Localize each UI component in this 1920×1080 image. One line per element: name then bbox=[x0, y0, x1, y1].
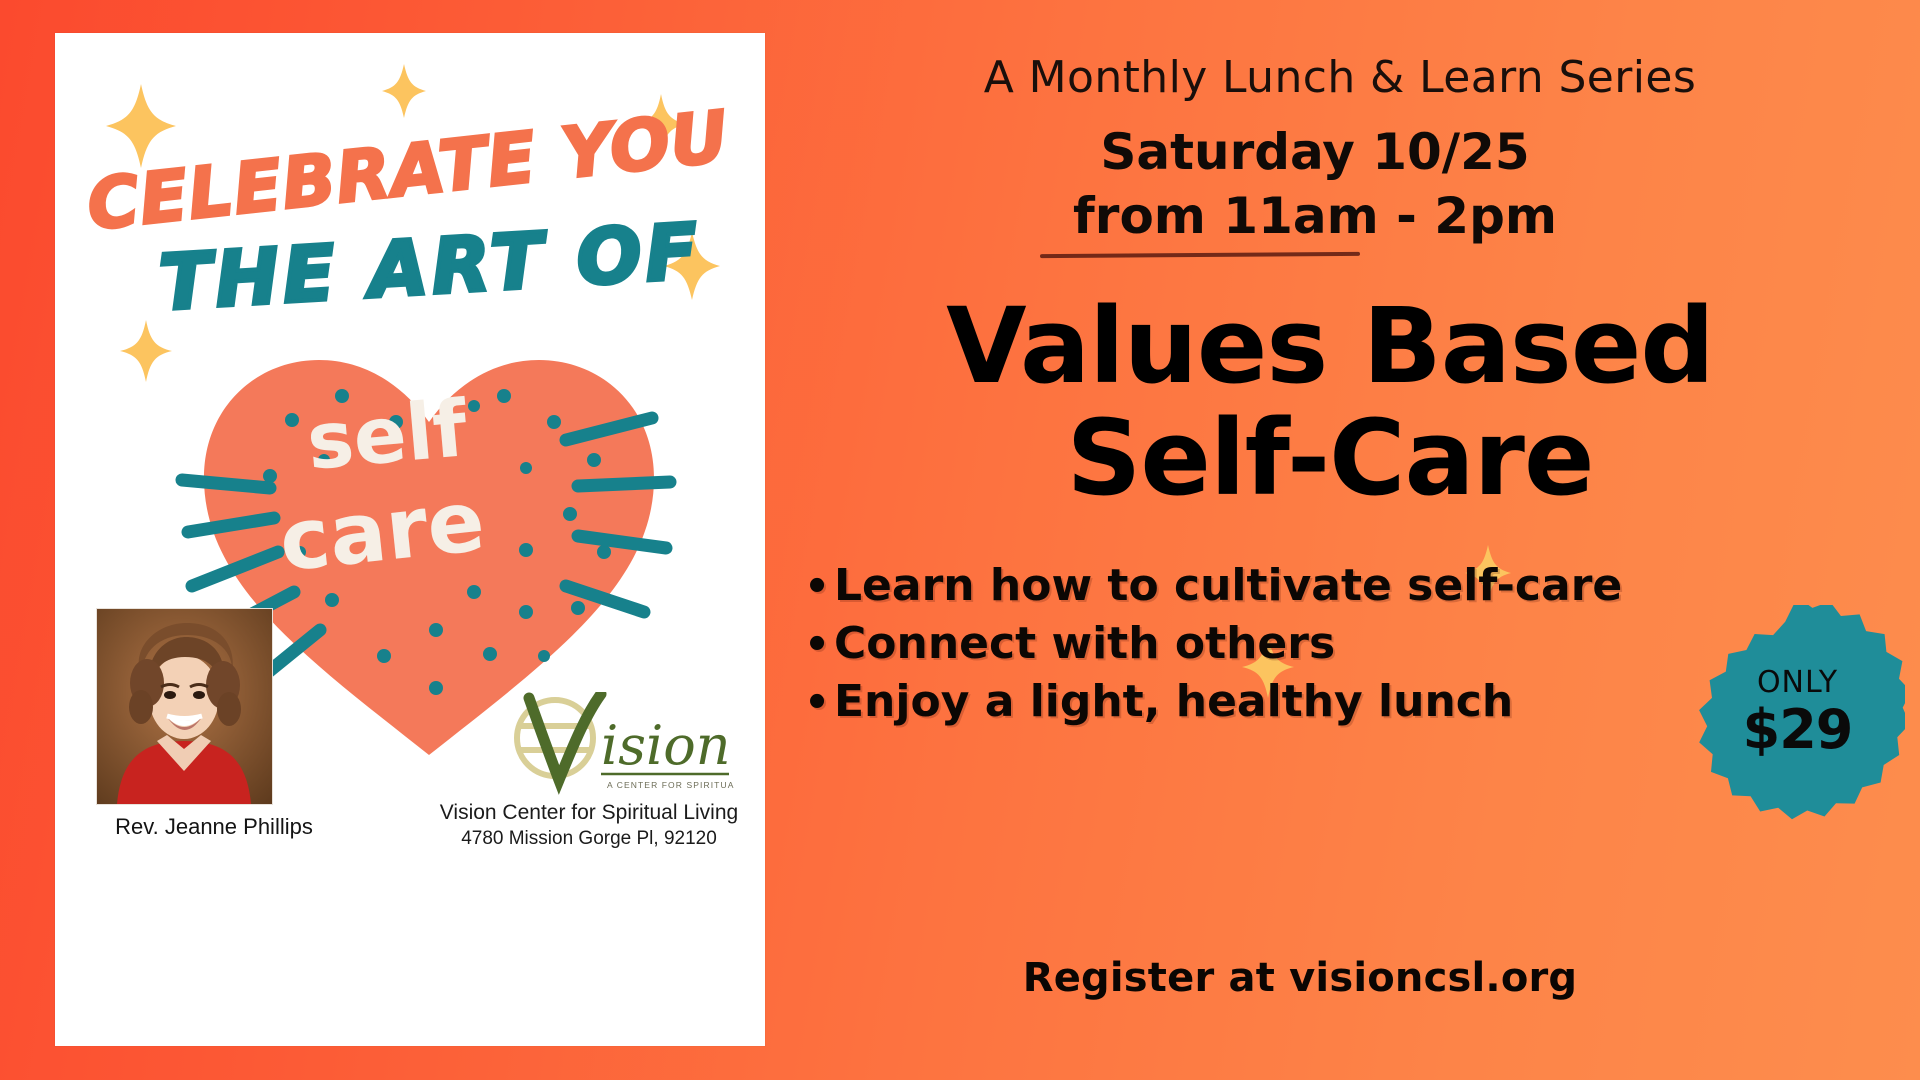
poster-card: CELEBRATE YOU ! THE ART OF bbox=[55, 33, 765, 1046]
page-title-line2: Self-Care bbox=[790, 402, 1870, 514]
badge-price: $29 bbox=[1743, 698, 1853, 761]
event-date: Saturday 10/25 bbox=[790, 120, 1840, 184]
right-panel: A Monthly Lunch & Learn Series Saturday … bbox=[790, 0, 1920, 1080]
event-time: from 11am - 2pm bbox=[790, 184, 1840, 248]
list-item-label: Learn how to cultivate self-care bbox=[834, 558, 1622, 614]
sparkle-icon bbox=[120, 320, 172, 382]
price-badge: ONLY $29 bbox=[1690, 605, 1905, 820]
presenter-photo bbox=[96, 608, 273, 805]
svg-text:ision: ision bbox=[601, 714, 731, 777]
poster-inner: CELEBRATE YOU ! THE ART OF bbox=[64, 42, 756, 1037]
venue-block: Vision Center for Spiritual Living 4780 … bbox=[419, 800, 756, 852]
presenter-name: Rev. Jeanne Phillips bbox=[84, 814, 344, 840]
register-cta: Register at visioncsl.org bbox=[790, 955, 1810, 1001]
page-title: Values Based Self-Care bbox=[790, 290, 1870, 515]
page-title-line1: Values Based bbox=[790, 290, 1870, 402]
vision-logo: ision A CENTER FOR SPIRITUAL LIVING bbox=[509, 692, 734, 802]
venue-address: 4780 Mission Gorge Pl, 92120 bbox=[419, 826, 756, 852]
sparkle-icon bbox=[382, 64, 426, 118]
date-time-block: Saturday 10/25 from 11am - 2pm bbox=[790, 120, 1840, 248]
bullet-marker-icon: • bbox=[800, 562, 834, 613]
venue-name: Vision Center for Spiritual Living bbox=[419, 800, 756, 826]
list-item-label: Connect with others bbox=[834, 616, 1335, 672]
date-underline-stroke bbox=[1040, 252, 1360, 258]
bullet-marker-icon: • bbox=[800, 678, 834, 729]
flyer-canvas: CELEBRATE YOU ! THE ART OF bbox=[0, 0, 1920, 1080]
list-item-label: Enjoy a light, healthy lunch bbox=[834, 674, 1513, 730]
series-subtitle: A Monthly Lunch & Learn Series bbox=[790, 52, 1890, 103]
badge-label: ONLY bbox=[1757, 665, 1838, 700]
bullet-marker-icon: • bbox=[800, 620, 834, 671]
svg-text:A CENTER FOR SPIRITUAL LIVING: A CENTER FOR SPIRITUAL LIVING bbox=[607, 780, 734, 790]
